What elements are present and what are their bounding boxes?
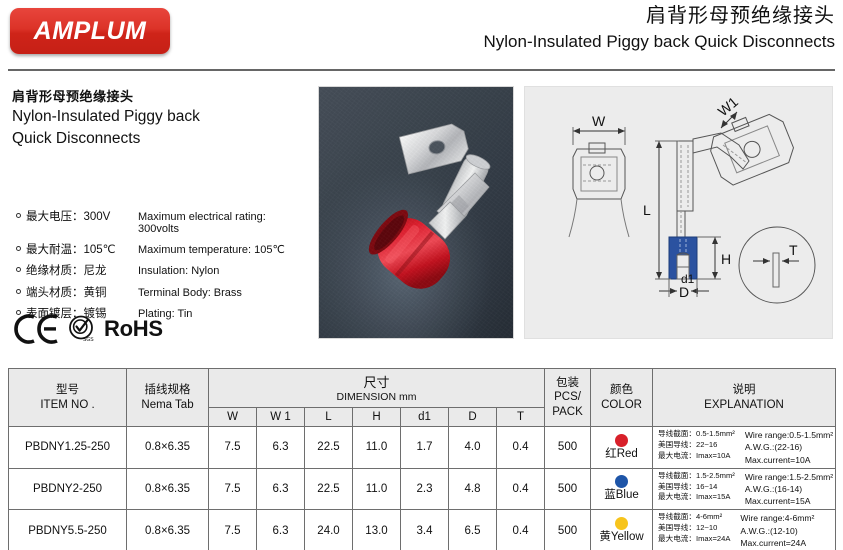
- product-title-en-line2: Quick Disconnects: [12, 129, 308, 149]
- product-title-en-line1: Nylon-Insulated Piggy back: [12, 107, 308, 127]
- cell-color: 黄Yellow: [591, 510, 653, 550]
- specification-list: 最大电压：300V Maximum electrical rating: 300…: [16, 208, 308, 327]
- cell-d: 4.0: [449, 427, 497, 469]
- expl-en-line: Wire range:4-6mm²: [740, 512, 814, 524]
- cell-color: 蓝Blue: [591, 468, 653, 510]
- svg-text:SGS: SGS: [83, 337, 94, 343]
- cell-l: 22.5: [305, 468, 353, 510]
- th-dim-d1: d1: [401, 408, 449, 427]
- th-dim-w1: W 1: [257, 408, 305, 427]
- table-header-row-1: 型号 ITEM NO . 插线规格 Nema Tab 尺寸 DIMENSION …: [9, 369, 836, 408]
- cell-pack: 500: [545, 468, 591, 510]
- label-W1: W1: [715, 93, 742, 119]
- expl-cn-line: 最大电流：Imax=24A: [658, 534, 730, 545]
- spec-label-en: Maximum temperature: 105℃: [138, 243, 285, 256]
- product-photo: [318, 86, 514, 339]
- cell-d1: 3.4: [401, 510, 449, 550]
- product-info-panel: 肩背形母预绝缘接头 Nylon-Insulated Piggy back Qui…: [12, 86, 308, 149]
- cell-pack: 500: [545, 510, 591, 550]
- cell-nema-tab: 0.8×6.35: [127, 427, 209, 469]
- cell-nema-tab: 0.8×6.35: [127, 510, 209, 550]
- expl-cn-line: 导线截面：0.5-1.5mm²: [658, 429, 735, 440]
- iso-view: [704, 105, 798, 188]
- logo-text: AMPLUM: [34, 17, 147, 46]
- th-dim-h: H: [353, 408, 401, 427]
- spec-row: 绝缘材质：尼龙 Insulation: Nylon: [16, 262, 308, 278]
- spec-row: 端头材质：黄铜 Terminal Body: Brass: [16, 284, 308, 300]
- th-pack: 包装 PCS/ PACK: [545, 369, 591, 427]
- header-title-cn: 肩背形母预绝缘接头: [484, 3, 836, 30]
- spec-label-en: Maximum electrical rating: 300volts: [138, 211, 308, 235]
- thickness-detail: [739, 227, 815, 303]
- ce-mark-icon: [14, 314, 60, 344]
- header-titles: 肩背形母预绝缘接头 Nylon-Insulated Piggy back Qui…: [484, 3, 836, 54]
- cell-t: 0.4: [497, 427, 545, 469]
- bullet-icon: [16, 246, 21, 251]
- expl-cn-line: 最大电流：Imax=15A: [658, 492, 735, 503]
- content-area: 肩背形母预绝缘接头 Nylon-Insulated Piggy back Qui…: [0, 86, 843, 348]
- cell-item-no: PBDNY5.5-250: [9, 510, 127, 550]
- th-dimension-en: DIMENSION mm: [210, 391, 543, 404]
- color-swatch-icon: [615, 475, 628, 488]
- cell-color: 红Red: [591, 427, 653, 469]
- spec-label-cn: 端头材质：黄铜: [26, 284, 138, 300]
- th-explanation: 说明 EXPLANATION: [653, 369, 836, 427]
- th-item-en: ITEM NO .: [10, 398, 125, 413]
- cell-d1: 2.3: [401, 468, 449, 510]
- expl-en-line: Wire range:1.5-2.5mm²: [745, 471, 833, 483]
- cell-w: 7.5: [209, 427, 257, 469]
- cell-explanation: 导线截面：0.5-1.5mm² 美国导线：22~16 最大电流：Imax=10A…: [653, 427, 836, 469]
- th-nema-cn: 插线规格: [128, 383, 207, 398]
- expl-en-line: A.W.G.:(16-14): [745, 483, 833, 495]
- technical-drawing: W W1 L H d1 D T: [524, 86, 833, 339]
- bullet-icon: [16, 267, 21, 272]
- cell-nema-tab: 0.8×6.35: [127, 468, 209, 510]
- th-dim-w: W: [209, 408, 257, 427]
- th-color: 颜色 COLOR: [591, 369, 653, 427]
- th-pack-en-1: PCS/: [554, 391, 581, 403]
- cell-t: 0.4: [497, 468, 545, 510]
- label-D: D: [679, 284, 689, 300]
- cell-explanation: 导线截面：4-6mm² 美国导线：12~10 最大电流：Imax=24A Wir…: [653, 510, 836, 550]
- dim-W: [573, 127, 625, 145]
- cell-item-no: PBDNY1.25-250: [9, 427, 127, 469]
- expl-en-line: Wire range:0.5-1.5mm²: [745, 429, 833, 441]
- color-label: 红Red: [591, 448, 652, 461]
- table-row: PBDNY2-250 0.8×6.35 7.5 6.3 22.5 11.0 2.…: [9, 468, 836, 510]
- cell-pack: 500: [545, 427, 591, 469]
- color-swatch-icon: [615, 434, 628, 447]
- th-item-cn: 型号: [10, 383, 125, 398]
- datasheet-page: AMPLUM 肩背形母预绝缘接头 Nylon-Insulated Piggy b…: [0, 0, 843, 550]
- rohs-label: RoHS: [104, 316, 163, 342]
- cell-h: 11.0: [353, 468, 401, 510]
- th-dim-t: T: [497, 408, 545, 427]
- cell-w1: 6.3: [257, 468, 305, 510]
- table-row: PBDNY5.5-250 0.8×6.35 7.5 6.3 24.0 13.0 …: [9, 510, 836, 550]
- spec-label-cn: 最大电压：300V: [26, 208, 138, 224]
- cell-l: 22.5: [305, 427, 353, 469]
- dimension-diagram: W W1 L H d1 D T: [525, 87, 834, 340]
- th-pack-en-2: PACK: [552, 406, 582, 418]
- expl-en-line: A.W.G.:(12-10): [740, 525, 814, 537]
- front-view: [569, 143, 629, 237]
- header-title-en: Nylon-Insulated Piggy back Quick Disconn…: [484, 30, 836, 54]
- th-pack-cn: 包装: [556, 377, 579, 389]
- amplum-logo: AMPLUM: [10, 8, 170, 54]
- explanation-en: Wire range:1.5-2.5mm² A.W.G.:(16-14) Max…: [745, 471, 833, 508]
- label-L: L: [643, 202, 651, 218]
- spec-label-cn: 最大耐温：105℃: [26, 241, 138, 257]
- th-expl-cn: 说明: [654, 383, 834, 398]
- table-row: PBDNY1.25-250 0.8×6.35 7.5 6.3 22.5 11.0…: [9, 427, 836, 469]
- th-color-en: COLOR: [592, 398, 651, 413]
- spec-row: 最大电压：300V Maximum electrical rating: 300…: [16, 208, 308, 235]
- bullet-icon: [16, 213, 21, 218]
- expl-cn-line: 导线截面：4-6mm²: [658, 512, 730, 523]
- color-label: 蓝Blue: [591, 489, 652, 502]
- cell-l: 24.0: [305, 510, 353, 550]
- spec-row: 最大耐温：105℃ Maximum temperature: 105℃: [16, 241, 308, 257]
- cell-h: 11.0: [353, 427, 401, 469]
- color-swatch-icon: [615, 517, 628, 530]
- header-divider: [8, 69, 835, 71]
- label-H: H: [721, 251, 731, 267]
- th-color-cn: 颜色: [592, 383, 651, 398]
- explanation-en: Wire range:0.5-1.5mm² A.W.G.:(22-16) Max…: [745, 429, 833, 466]
- expl-cn-line: 最大电流：Imax=10A: [658, 451, 735, 462]
- cell-item-no: PBDNY2-250: [9, 468, 127, 510]
- cell-t: 0.4: [497, 510, 545, 550]
- expl-en-line: A.W.G.:(22-16): [745, 441, 833, 453]
- spec-label-cn: 绝缘材质：尼龙: [26, 262, 138, 278]
- sgs-mark-icon: SGS: [67, 314, 97, 344]
- cell-d: 4.8: [449, 468, 497, 510]
- expl-cn-line: 美国导线：22~16: [658, 440, 735, 451]
- expl-cn-line: 导线截面：1.5-2.5mm²: [658, 471, 735, 482]
- specification-table: 型号 ITEM NO . 插线规格 Nema Tab 尺寸 DIMENSION …: [8, 368, 836, 550]
- cell-explanation: 导线截面：1.5-2.5mm² 美国导线：16~14 最大电流：Imax=15A…: [653, 468, 836, 510]
- bullet-icon: [16, 289, 21, 294]
- th-dim-d: D: [449, 408, 497, 427]
- photo-texture: [319, 87, 513, 338]
- expl-en-line: Max.current=24A: [740, 537, 814, 549]
- explanation-cn: 导线截面：4-6mm² 美国导线：12~10 最大电流：Imax=24A: [658, 512, 730, 549]
- spec-label-en: Insulation: Nylon: [138, 265, 219, 277]
- spec-label-en: Terminal Body: Brass: [138, 287, 242, 299]
- expl-en-line: Max.current=10A: [745, 454, 833, 466]
- cell-d: 6.5: [449, 510, 497, 550]
- th-expl-en: EXPLANATION: [654, 398, 834, 413]
- cell-w: 7.5: [209, 468, 257, 510]
- page-header: AMPLUM 肩背形母预绝缘接头 Nylon-Insulated Piggy b…: [0, 0, 843, 70]
- color-label: 黄Yellow: [591, 531, 652, 544]
- cell-w1: 6.3: [257, 510, 305, 550]
- th-dimension-cn: 尺寸: [364, 375, 390, 390]
- label-W: W: [592, 113, 606, 129]
- product-title-cn: 肩背形母预绝缘接头: [12, 86, 308, 105]
- label-T: T: [789, 242, 798, 258]
- certification-marks: SGS RoHS: [14, 314, 163, 344]
- expl-cn-line: 美国导线：16~14: [658, 482, 735, 493]
- th-dim-l: L: [305, 408, 353, 427]
- explanation-en: Wire range:4-6mm² A.W.G.:(12-10) Max.cur…: [740, 512, 814, 549]
- cell-d1: 1.7: [401, 427, 449, 469]
- th-dimension-group: 尺寸 DIMENSION mm: [209, 369, 545, 408]
- th-item-no: 型号 ITEM NO .: [9, 369, 127, 427]
- explanation-cn: 导线截面：1.5-2.5mm² 美国导线：16~14 最大电流：Imax=15A: [658, 471, 735, 508]
- explanation-cn: 导线截面：0.5-1.5mm² 美国导线：22~16 最大电流：Imax=10A: [658, 429, 735, 466]
- th-nema-tab: 插线规格 Nema Tab: [127, 369, 209, 427]
- cell-w: 7.5: [209, 510, 257, 550]
- cell-h: 13.0: [353, 510, 401, 550]
- expl-en-line: Max.current=15A: [745, 495, 833, 507]
- cell-w1: 6.3: [257, 427, 305, 469]
- dim-H: [697, 237, 721, 279]
- side-view: [669, 133, 749, 279]
- expl-cn-line: 美国导线：12~10: [658, 523, 730, 534]
- th-nema-en: Nema Tab: [128, 398, 207, 413]
